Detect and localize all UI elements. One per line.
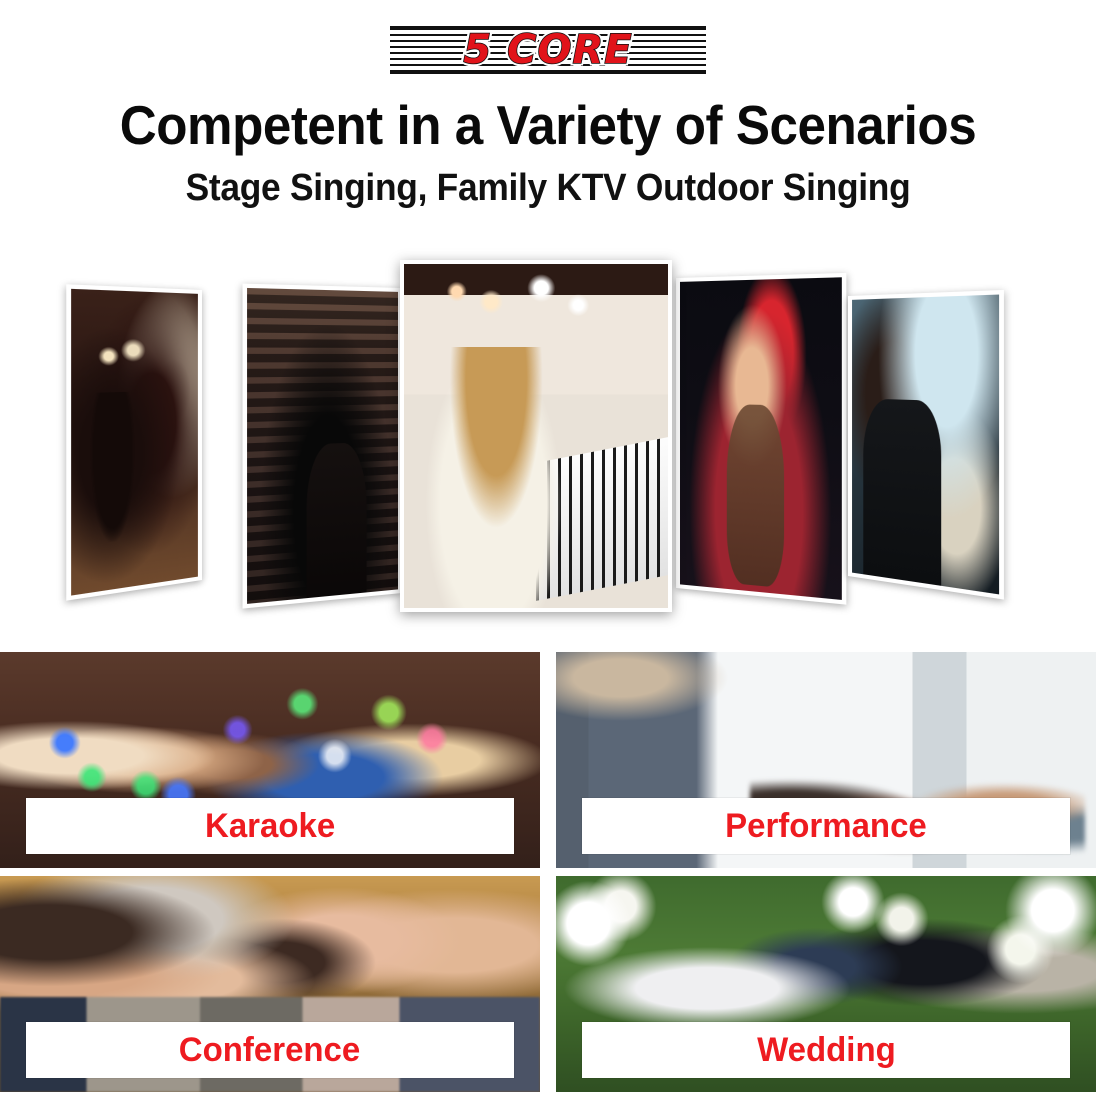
scenario-card-conference: Conference (0, 876, 540, 1092)
scenario-photo-collage (0, 248, 1096, 633)
collage-panel-drummer (848, 290, 1004, 600)
scenario-label-banner: Wedding (582, 1022, 1070, 1078)
collage-panel-ballet (66, 284, 202, 600)
scenario-label-banner: Performance (582, 798, 1070, 854)
scenario-label-banner: Karaoke (26, 798, 514, 854)
five-core-logo: 5 CORE 5 CORE (390, 26, 706, 74)
collage-panel-kid-piano (400, 260, 672, 612)
scenario-card-performance: Performance (556, 652, 1096, 868)
collage-panel-singer (676, 273, 846, 605)
brand-logo-area: 5 CORE 5 CORE (0, 26, 1096, 74)
ballet-photo (71, 289, 198, 596)
scenario-label: Karaoke (205, 807, 335, 846)
scenario-label: Conference (179, 1031, 360, 1070)
collage-panel-audience (243, 284, 402, 609)
scenario-card-karaoke: Karaoke (0, 652, 540, 868)
scenario-label-banner: Conference (26, 1022, 514, 1078)
drummer-photo (852, 295, 999, 595)
piano-keys (536, 437, 668, 600)
scenario-label: Wedding (757, 1031, 896, 1070)
female-singer-photo (680, 277, 842, 600)
page-title: Competent in a Variety of Scenarios (38, 95, 1057, 155)
concert-audience-photo (247, 288, 398, 604)
scenario-label: Performance (725, 807, 927, 846)
scenario-card-wedding: Wedding (556, 876, 1096, 1092)
kid-piano-photo (404, 264, 668, 608)
scenario-grid: Karaoke Performance Conference Wedding (0, 652, 1096, 1096)
page-subtitle: Stage Singing, Family KTV Outdoor Singin… (38, 166, 1057, 210)
logo-text: 5 CORE (390, 26, 706, 74)
